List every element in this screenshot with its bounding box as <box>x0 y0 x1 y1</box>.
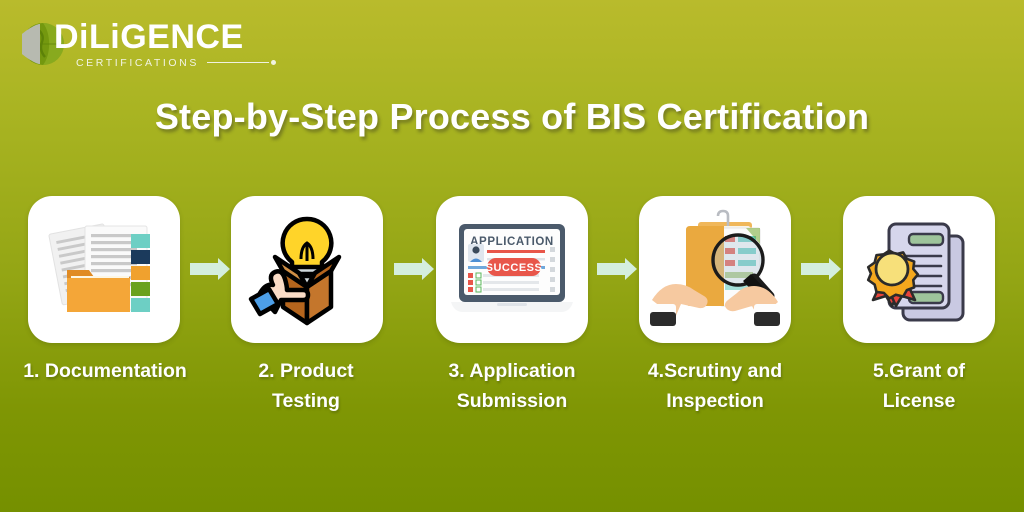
right-arrow-icon <box>394 258 434 280</box>
step-card-product-testing[interactable] <box>231 196 383 343</box>
brand-logo[interactable]: DiLiGENCE CERTIFICATIONS <box>10 12 230 74</box>
caption-step-1: 1. Documentation <box>0 356 210 386</box>
caption-step-3: 3. Application Submission <box>407 356 617 416</box>
brand-name: DiLiGENCE <box>54 18 276 56</box>
step-card-grant-of-license[interactable] <box>843 196 995 343</box>
lightbulb-box-icon <box>245 211 369 329</box>
caption-line: Submission <box>407 386 617 416</box>
page-title: Step-by-Step Process of BIS Certificatio… <box>0 96 1024 138</box>
magnifier-folder-icon <box>650 208 780 332</box>
step-card-documentation[interactable] <box>28 196 180 343</box>
logo-dot <box>271 60 276 65</box>
caption-line: License <box>814 386 1024 416</box>
right-arrow-icon <box>190 258 230 280</box>
step-card-application-submission[interactable]: APPLICATION <box>436 196 588 343</box>
certificate-award-icon <box>861 214 977 326</box>
caption-line: 1. Documentation <box>23 360 187 382</box>
caption-step-2: 2. Product Testing <box>201 356 411 416</box>
laptop-screen-stamp: SUCCESS <box>486 262 543 274</box>
document-color-tabs <box>131 234 150 312</box>
caption-step-4: 4.Scrutiny and Inspection <box>610 356 820 416</box>
caption-line: Inspection <box>610 386 820 416</box>
brand-wordmark: DiLiGENCE CERTIFICATIONS <box>54 18 276 69</box>
right-arrow-icon <box>801 258 841 280</box>
caption-step-5: 5.Grant of License <box>814 356 1024 416</box>
caption-line: Testing <box>201 386 411 416</box>
caption-line: 5.Grant of <box>814 356 1024 386</box>
right-arrow-icon <box>597 258 637 280</box>
caption-line: 3. Application <box>407 356 617 386</box>
brand-tagline: CERTIFICATIONS <box>76 57 199 69</box>
process-steps: APPLICATION <box>0 196 1024 346</box>
laptop-application-icon: APPLICATION <box>447 214 577 326</box>
caption-line: 4.Scrutiny and <box>610 356 820 386</box>
logo-rule <box>207 62 269 63</box>
caption-line: 2. Product <box>201 356 411 386</box>
brand-tagline-row: CERTIFICATIONS <box>54 56 276 69</box>
step-card-scrutiny-inspection[interactable] <box>639 196 791 343</box>
step-captions: 1. Documentation 2. Product Testing 3. A… <box>0 356 1024 426</box>
documents-folder-icon <box>45 214 163 326</box>
